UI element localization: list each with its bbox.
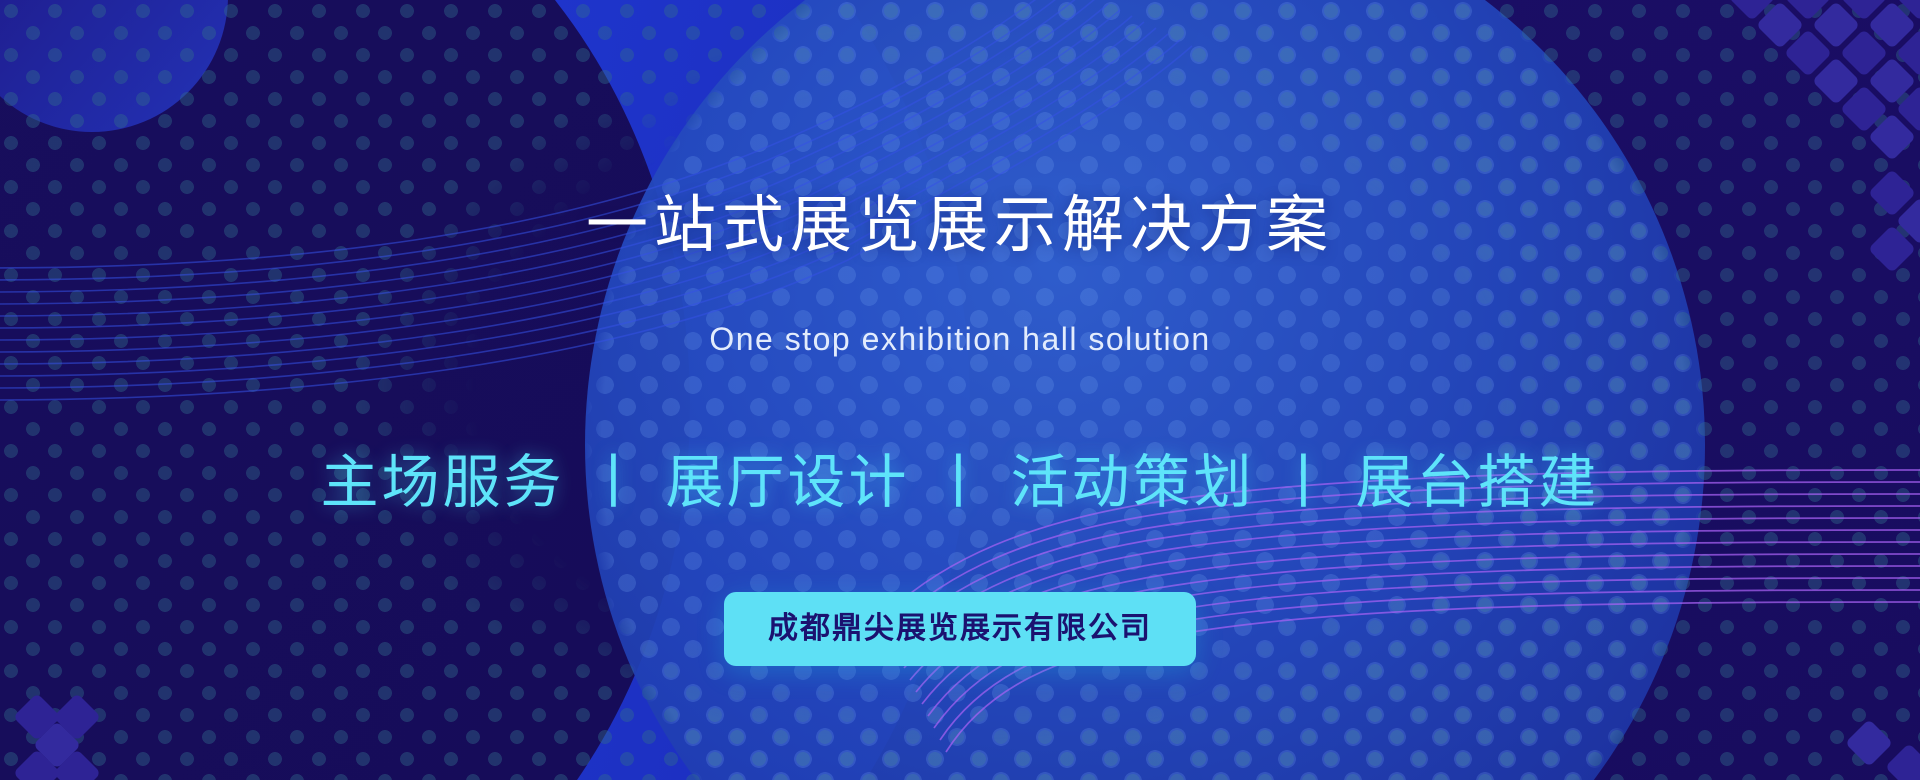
service-list: 主场服务 丨 展厅设计 丨 活动策划 丨 展台搭建: [318, 451, 1601, 515]
banner-subtitle-english: One stop exhibition hall solution: [709, 323, 1210, 355]
service-item-3: 展台搭建: [1354, 451, 1602, 515]
service-item-1: 展厅设计: [663, 451, 911, 515]
hero-banner: 一站式展览展示解决方案 One stop exhibition hall sol…: [0, 0, 1920, 780]
service-separator-0: 丨: [566, 451, 663, 515]
service-separator-1: 丨: [911, 451, 1008, 515]
service-item-2: 活动策划: [1009, 451, 1257, 515]
service-separator-2: 丨: [1257, 451, 1354, 515]
banner-content: 一站式展览展示解决方案 One stop exhibition hall sol…: [0, 0, 1920, 780]
company-cta-button[interactable]: 成都鼎尖展览展示有限公司: [724, 592, 1196, 666]
banner-title-chinese: 一站式展览展示解决方案: [586, 195, 1334, 257]
service-item-0: 主场服务: [318, 451, 566, 515]
